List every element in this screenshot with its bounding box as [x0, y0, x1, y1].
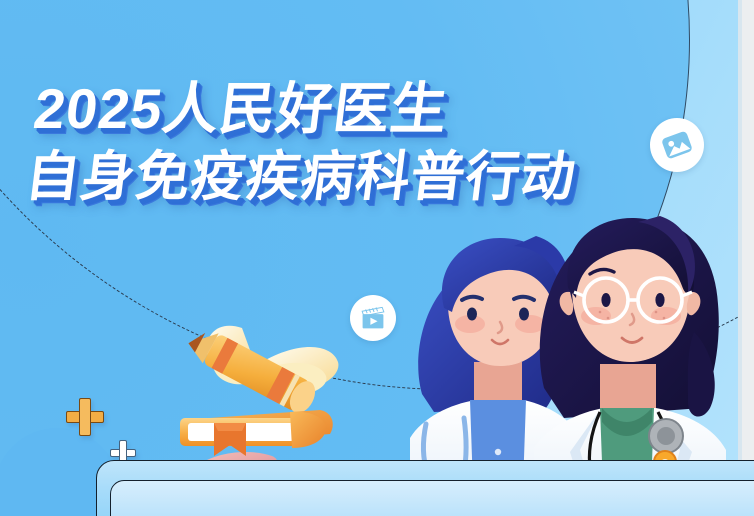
book-shape — [180, 410, 333, 456]
photo-icon-glyph — [658, 126, 696, 164]
title-line-2: 自身免疫疾病科普行动 — [22, 146, 580, 208]
video-icon[interactable] — [350, 295, 396, 341]
poster-title: 2025人民好医生 自身免疫疾病科普行动 — [22, 78, 588, 208]
campaign-poster: 2025人民好医生 自身免疫疾病科普行动 — [0, 0, 754, 516]
photo-icon[interactable] — [650, 118, 704, 172]
title-line-1: 2025人民好医生 — [30, 78, 588, 140]
device-base-inner — [110, 480, 754, 516]
video-icon-glyph — [360, 305, 386, 331]
plus-orange-icon — [66, 398, 104, 436]
